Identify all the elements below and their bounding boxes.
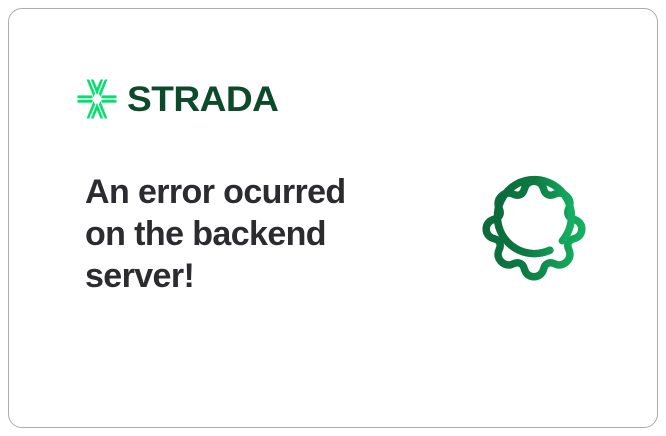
brand-logo: STRADA — [77, 75, 270, 123]
strada-asterisk-icon — [77, 79, 117, 119]
brand-wordmark: STRADA — [127, 82, 278, 117]
error-message: An error ocurred on the backend server! — [85, 171, 385, 297]
error-message-line: on the backend — [85, 213, 385, 255]
error-screen: STRADA An error ocurred on the backend s… — [0, 0, 666, 436]
error-card: STRADA An error ocurred on the backend s… — [8, 8, 658, 428]
error-message-line: An error ocurred — [85, 171, 385, 213]
gear-illustration — [454, 149, 614, 309]
error-message-line: server! — [85, 255, 385, 297]
